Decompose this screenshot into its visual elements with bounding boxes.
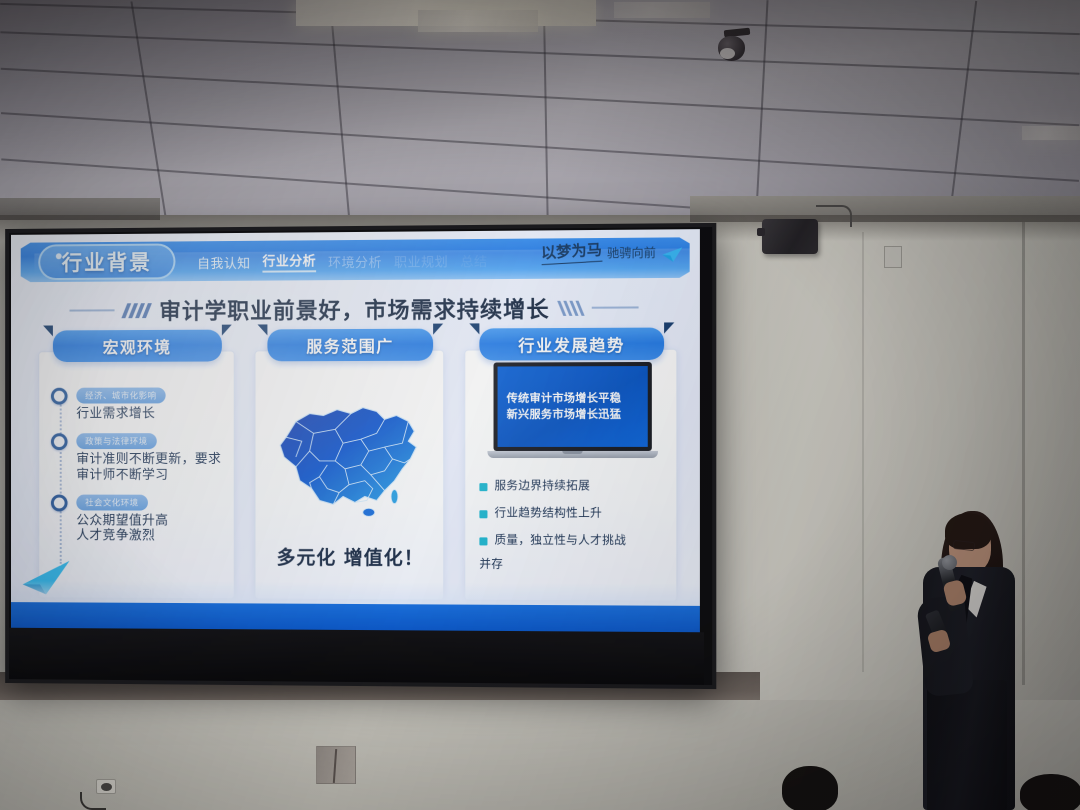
presenter-skirt <box>927 680 1007 810</box>
security-camera-icon <box>718 33 748 61</box>
bullet-text: 行业趋势结构性上升 <box>495 506 603 520</box>
slogan-sub: 驰骋向前 <box>607 244 656 264</box>
bullet-square-icon <box>479 537 487 545</box>
section-badge[interactable]: 行业背景 <box>38 243 175 280</box>
nav-item-career-planning[interactable]: 职业规划 <box>394 251 448 270</box>
slide-title-row: 审计学职业前景好，市场需求持续增长 <box>11 290 700 328</box>
audience-head <box>782 766 838 810</box>
list-item[interactable]: 质量，独立性与人才挑战 <box>479 533 672 548</box>
title-rule-right <box>591 306 638 308</box>
item-badge: 政策与法律环境 <box>76 433 156 449</box>
room-scene: 行业背景 自我认知 行业分析 环境分析 职业规划 总结 以梦为马 驰骋向前 <box>0 0 1080 810</box>
trend-bullet-list: 服务边界持续拓展 行业趋势结构性上升 质量，独立性与人才挑战 并存 <box>479 479 672 573</box>
slide-nav[interactable]: 自我认知 行业分析 环境分析 职业规划 总结 <box>197 249 487 273</box>
item-badge: 社会文化环境 <box>76 494 147 510</box>
card-heading-label: 行业发展趋势 <box>518 332 625 357</box>
wall-access-panel <box>316 746 356 784</box>
list-item[interactable]: 经济、城市化影响 行业需求增长 <box>51 385 224 422</box>
timeline-dot-icon <box>51 433 68 450</box>
bullet-text: 质量，独立性与人才挑战 <box>495 533 627 547</box>
title-slashes-left <box>125 303 150 318</box>
china-map-icon <box>265 381 435 531</box>
list-item[interactable]: 社会文化环境 公众期望值升高 人才竞争激烈 <box>51 492 224 545</box>
nav-item-environment-analysis[interactable]: 环境分析 <box>328 251 382 270</box>
card-service-scope[interactable]: 服务范围广 <box>255 350 445 601</box>
presentation-slide: 行业背景 自我认知 行业分析 环境分析 职业规划 总结 以梦为马 驰骋向前 <box>11 229 700 632</box>
speaker-wire <box>816 205 852 227</box>
list-item[interactable]: 行业趋势结构性上升 <box>479 506 672 520</box>
card-heading-label: 服务范围广 <box>306 333 393 357</box>
timeline-dot-icon <box>51 494 68 511</box>
laptop-icon: 传统审计市场增长平稳 新兴服务市场增长迅猛 <box>487 362 658 463</box>
item-text: 审计准则不断更新，要求审计师不断学习 <box>76 452 223 484</box>
item-text: 行业需求增长 <box>76 406 223 422</box>
bullet-square-icon <box>479 510 487 518</box>
timeline-dot-icon <box>51 388 68 405</box>
laptop-screen-text: 传统审计市场增长平稳 新兴服务市场增长迅猛 <box>498 391 648 423</box>
section-badge-label: 行业背景 <box>62 247 152 277</box>
nav-item-industry-analysis[interactable]: 行业分析 <box>262 250 316 272</box>
macro-timeline: 经济、城市化影响 行业需求增长 政策与法律环境 审计准则不断更新，要求审计师不断… <box>51 385 224 553</box>
map-caption: 多元化 增值化！ <box>256 543 446 571</box>
title-rule-left <box>70 309 115 311</box>
list-item[interactable]: 服务边界持续拓展 <box>479 479 672 493</box>
slogan-main: 以梦为马 <box>540 238 602 265</box>
card-heading-service: 服务范围广 <box>267 329 433 362</box>
bullet-tail-text: 并存 <box>479 556 672 573</box>
projector-screen[interactable]: 行业背景 自我认知 行业分析 环境分析 职业规划 总结 以梦为马 驰骋向前 <box>5 223 716 689</box>
page-title: 审计学职业前景好，市场需求持续增长 <box>159 292 549 326</box>
wall-seam-2 <box>862 232 864 672</box>
card-heading-macro: 宏观环境 <box>53 330 222 362</box>
card-heading-trend: 行业发展趋势 <box>479 328 664 361</box>
nav-item-self-cognition[interactable]: 自我认知 <box>197 252 250 271</box>
screen-bezel-bottom <box>5 628 704 685</box>
item-text: 公众期望值升高 人才竞争激烈 <box>76 513 223 545</box>
card-heading-label: 宏观环境 <box>103 334 172 358</box>
paper-plane-icon <box>661 246 683 262</box>
bullet-text: 服务边界持续拓展 <box>495 479 591 493</box>
wall-plate-icon <box>884 246 902 268</box>
wall-speaker-icon <box>762 219 818 254</box>
title-slashes-right <box>560 300 581 315</box>
nav-item-summary[interactable]: 总结 <box>460 250 487 269</box>
item-badge: 经济、城市化影响 <box>76 387 165 403</box>
bullet-square-icon <box>479 483 487 491</box>
presenter <box>905 505 1055 810</box>
power-cord <box>80 792 106 810</box>
card-industry-trend[interactable]: 行业发展趋势 传统审计市场增长平稳 新兴服务市场增长迅猛 服务边界持续拓展 <box>464 349 677 602</box>
slide-slogan: 以梦为马 驰骋向前 <box>541 239 684 263</box>
badge-sparkle-icon <box>56 253 62 259</box>
list-item[interactable]: 政策与法律环境 审计准则不断更新，要求审计师不断学习 <box>51 431 224 483</box>
